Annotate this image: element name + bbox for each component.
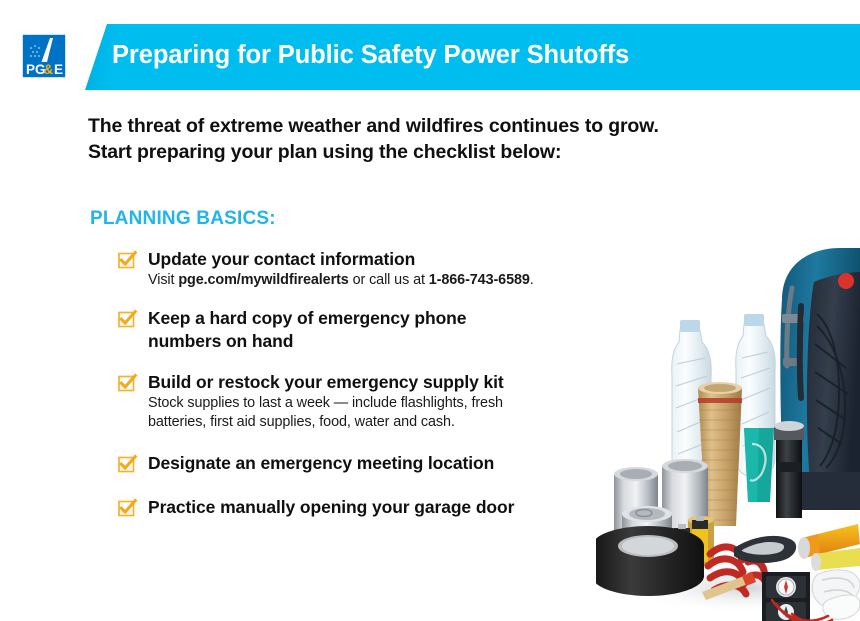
wildfire-alerts-url[interactable]: pge.com/mywildfirealerts [178, 272, 348, 288]
pge-logo: PG & E ® [20, 32, 68, 80]
checkbox-checked-icon[interactable] [118, 251, 136, 269]
pge-logo-amp: & [44, 62, 54, 77]
support-phone-number[interactable]: 1-866-743-6589 [429, 272, 530, 288]
checklist-item-title-line: Designate an emergency meeting location [148, 452, 618, 474]
sub-prefix: Visit [148, 272, 178, 288]
section-heading-planning-basics: PLANNING BASICS: [90, 208, 276, 230]
checkbox-checked-icon[interactable] [118, 499, 136, 517]
checklist-item-title: Update your contact information [148, 248, 618, 270]
lead-line-1: The threat of extreme weather and wildfi… [88, 113, 708, 139]
checkbox-checked-icon[interactable] [118, 455, 136, 473]
checklist-item-subtext: Visit pge.com/mywildfirealerts or call u… [148, 271, 618, 290]
duct-tape-illustration [596, 526, 704, 596]
sub-mid: or call us at [349, 272, 429, 288]
registered-mark-icon: ® [61, 37, 65, 44]
checklist-item[interactable]: Designate an emergency meeting location [118, 452, 618, 474]
checklist-item-title: Keep a hard copy of emergency phone numb… [148, 307, 618, 352]
flyer-page: PG & E ® Preparing for Public Safety Pow… [0, 0, 860, 621]
checklist-item-subtext-line: batteries, first aid supplies, food, wat… [148, 413, 618, 432]
checklist-item-title: Designate an emergency meeting location [148, 452, 618, 474]
page-title: Preparing for Public Safety Power Shutof… [112, 43, 812, 69]
checklist-item[interactable]: Keep a hard copy of emergency phone numb… [118, 307, 618, 352]
planning-basics-checklist: Update your contact information Visit pg… [118, 248, 618, 519]
checklist-item-title-line: Update your contact information [148, 248, 618, 270]
checklist-item[interactable]: Build or restock your emergency supply k… [118, 371, 618, 432]
checklist-item-title-line: Keep a hard copy of emergency phone [148, 307, 618, 329]
checklist-item-title-line: Build or restock your emergency supply k… [148, 371, 618, 393]
page-header: PG & E ® Preparing for Public Safety Pow… [0, 0, 860, 100]
checklist-item-title-line: Practice manually opening your garage do… [148, 496, 618, 518]
lead-line-2: Start preparing your plan using the chec… [88, 139, 708, 165]
checklist-item-title-line: numbers on hand [148, 330, 618, 352]
flashlight-illustration [774, 421, 804, 518]
teal-container-illustration [744, 428, 774, 502]
sub-suffix: . [530, 272, 534, 288]
checklist-item-subtext-line: Stock supplies to last a week — include … [148, 394, 618, 413]
lead-paragraph: The threat of extreme weather and wildfi… [88, 113, 708, 166]
checklist-item-subtext: Stock supplies to last a week — include … [148, 394, 618, 431]
checklist-item-title: Practice manually opening your garage do… [148, 496, 618, 518]
checkbox-checked-icon[interactable] [118, 374, 136, 392]
checklist-item[interactable]: Practice manually opening your garage do… [118, 496, 618, 518]
checkbox-checked-icon[interactable] [118, 310, 136, 328]
checklist-item[interactable]: Update your contact information Visit pg… [118, 248, 618, 290]
checklist-item-title: Build or restock your emergency supply k… [148, 371, 618, 393]
emergency-kit-photo [596, 248, 860, 621]
pge-logo-e: E [54, 62, 63, 77]
